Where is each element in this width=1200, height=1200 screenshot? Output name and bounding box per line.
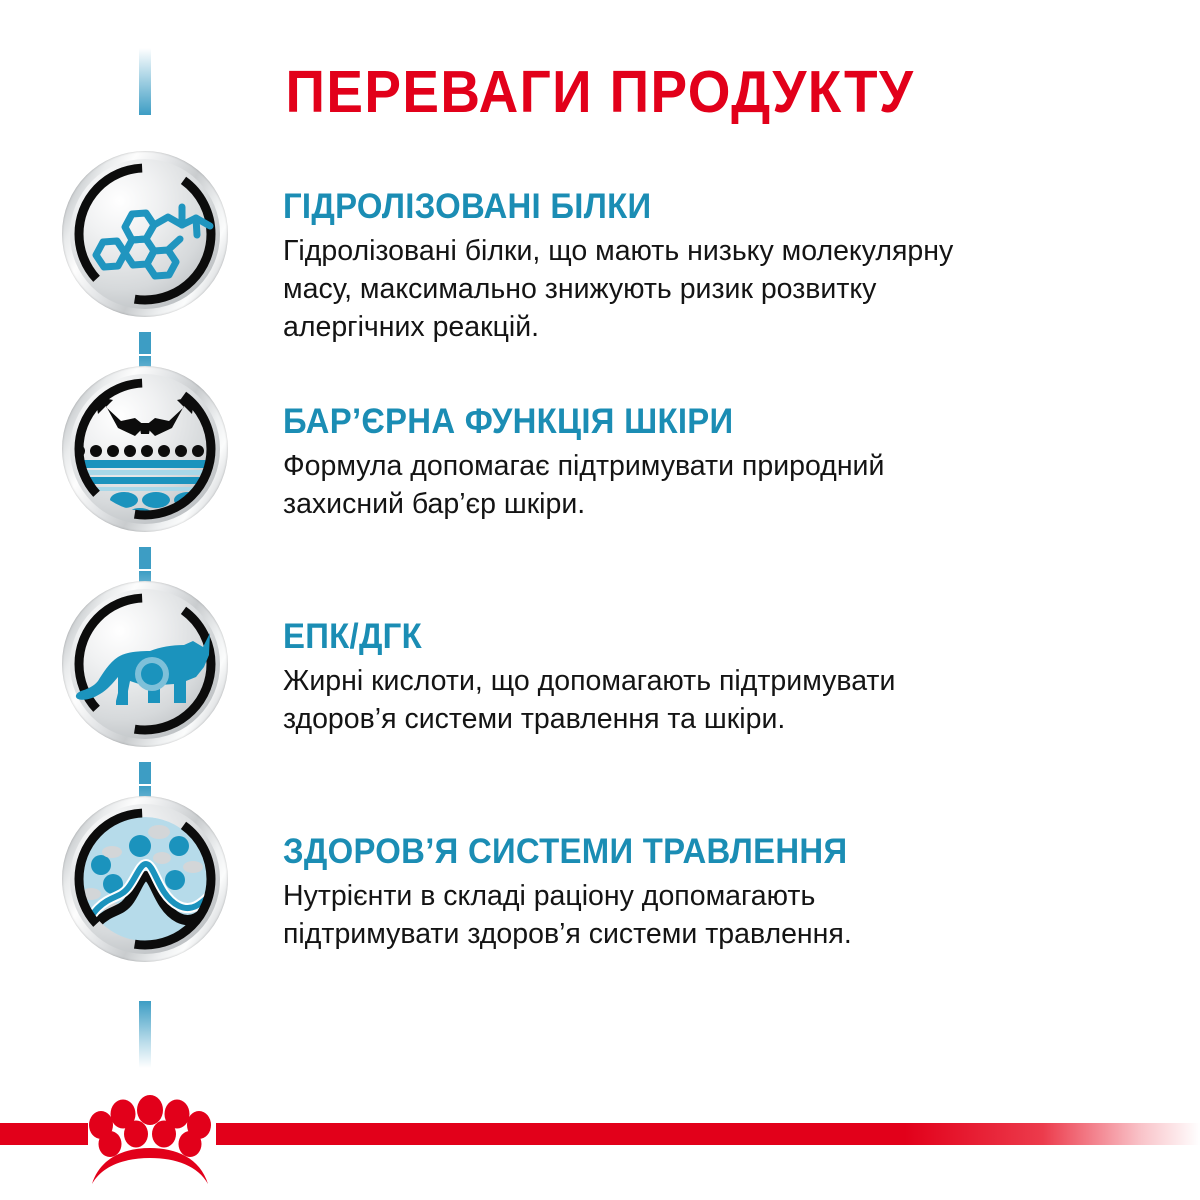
benefits-list: ГІДРОЛІЗОВАНІ БІЛКИ Гідролізовані білки,…	[0, 140, 1200, 1000]
skin-barrier-glyph	[62, 366, 228, 532]
cat-glyph	[62, 581, 228, 747]
benefit-icon-column	[0, 140, 283, 355]
benefit-title: ГІДРОЛІЗОВАНІ БІЛКИ	[283, 188, 1107, 226]
benefit-description: Нутрієнти в складі раціону допомагають п…	[283, 878, 1160, 954]
benefit-line: алергічних реакцій.	[283, 309, 1160, 347]
benefit-line: підтримувати здоров’я системи травлення.	[283, 916, 1160, 954]
benefit-line: захисний бар’єр шкіри.	[283, 486, 1160, 524]
connector-dash	[139, 762, 151, 784]
benefit-icon-column	[0, 355, 283, 570]
benefit-text-column: ЕПК/ДГК Жирні кислоти, що допомагають пі…	[283, 570, 1200, 739]
digestive-glyph	[62, 796, 228, 962]
benefit-description: Гідролізовані білки, що мають низьку мол…	[283, 233, 1160, 347]
benefit-title: ЕПК/ДГК	[283, 618, 1107, 656]
benefit-title: БАР’ЄРНА ФУНКЦІЯ ШКІРИ	[283, 403, 1107, 441]
footer-bar-right	[216, 1123, 1200, 1145]
connector-dash	[139, 547, 151, 569]
benefit-description: Жирні кислоти, що допомагають підтримува…	[283, 663, 1160, 739]
skin-barrier-icon	[62, 366, 228, 532]
benefit-line: Формула допомагає підтримувати природний	[283, 448, 1160, 486]
royal-canin-crown-logo	[78, 1092, 222, 1188]
molecule-glyph	[62, 151, 228, 317]
footer-bar-left	[0, 1123, 88, 1145]
molecule-icon	[62, 151, 228, 317]
benefit-text-column: ГІДРОЛІЗОВАНІ БІЛКИ Гідролізовані білки,…	[283, 140, 1200, 346]
connector-dash	[139, 332, 151, 354]
cat-silhouette-icon	[62, 581, 228, 747]
benefit-icon-column	[0, 570, 283, 785]
benefit-line: Гідролізовані білки, що мають низьку мол…	[283, 233, 1160, 271]
benefit-title: ЗДОРОВ’Я СИСТЕМИ ТРАВЛЕННЯ	[283, 833, 1107, 871]
benefit-row: ЗДОРОВ’Я СИСТЕМИ ТРАВЛЕННЯ Нутрієнти в с…	[0, 785, 1200, 1000]
benefit-line: здоров’я системи травлення та шкіри.	[283, 701, 1160, 739]
benefit-row: БАР’ЄРНА ФУНКЦІЯ ШКІРИ Формула допомагає…	[0, 355, 1200, 570]
connector-dash-bottom	[139, 1001, 151, 1068]
benefit-line: масу, максимально знижують ризик розвитк…	[283, 271, 1160, 309]
benefit-row: ГІДРОЛІЗОВАНІ БІЛКИ Гідролізовані білки,…	[0, 140, 1200, 355]
benefit-line: Нутрієнти в складі раціону допомагають	[283, 878, 1160, 916]
page-title: ПЕРЕВАГИ ПРОДУКТУ	[42, 62, 1158, 124]
benefit-row: ЕПК/ДГК Жирні кислоти, що допомагають пі…	[0, 570, 1200, 785]
benefit-icon-column	[0, 785, 283, 1000]
benefit-text-column: ЗДОРОВ’Я СИСТЕМИ ТРАВЛЕННЯ Нутрієнти в с…	[283, 785, 1200, 954]
digestive-health-icon	[62, 796, 228, 962]
benefit-line: Жирні кислоти, що допомагають підтримува…	[283, 663, 1160, 701]
connector-dash-top	[139, 48, 151, 115]
footer	[0, 1090, 1200, 1200]
benefit-text-column: БАР’ЄРНА ФУНКЦІЯ ШКІРИ Формула допомагає…	[283, 355, 1200, 524]
benefit-description: Формула допомагає підтримувати природний…	[283, 448, 1160, 524]
